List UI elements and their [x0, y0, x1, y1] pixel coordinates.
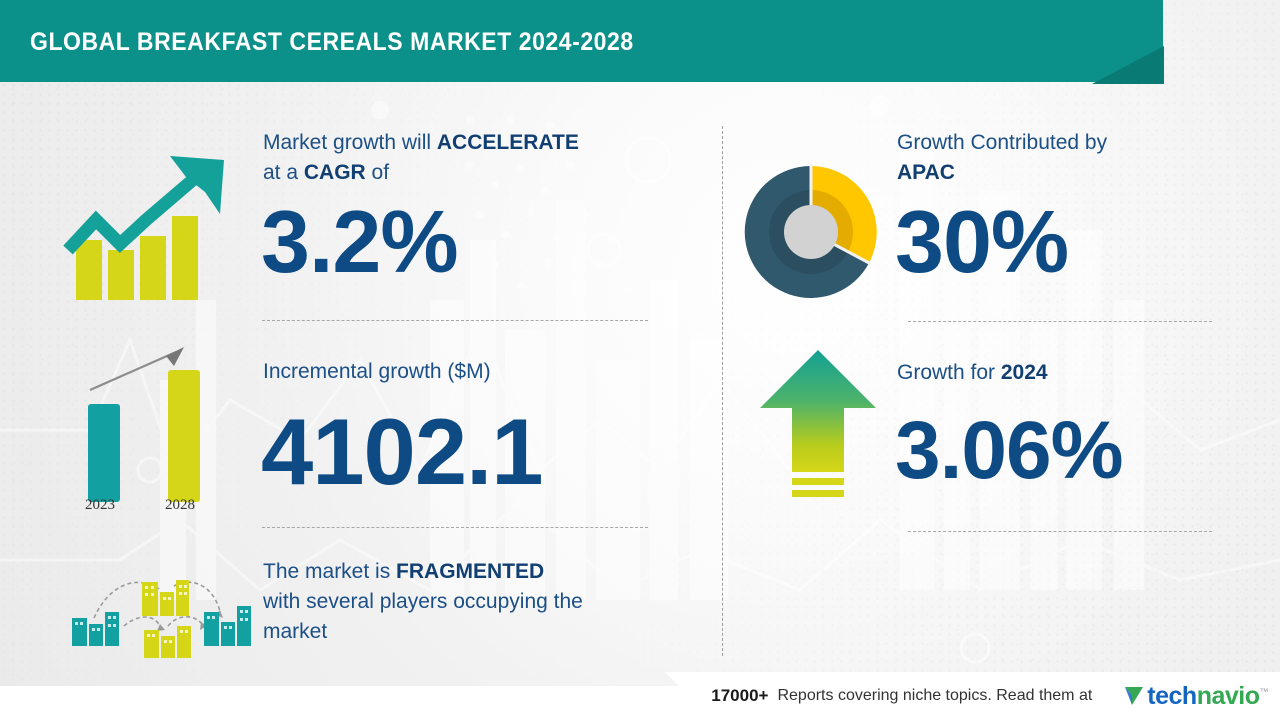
apac-description: Growth Contributed by APAC: [897, 128, 1227, 188]
apac-value-block: 30%: [895, 198, 1068, 286]
logo-trademark: ™: [1260, 686, 1269, 696]
divider-left-2: [262, 527, 648, 528]
up-arrow-icon: [756, 344, 880, 512]
logo-text-tech: tech: [1147, 682, 1196, 710]
cagr-value: 3.2%: [261, 198, 458, 286]
fragmentation-line1-prefix: The market is: [263, 560, 396, 583]
divider-left-1: [262, 320, 648, 321]
cagr-value-block: 3.2%: [261, 198, 458, 286]
fragmentation-description: The market is FRAGMENTED with several pl…: [263, 557, 683, 647]
apac-value: 30%: [895, 198, 1068, 286]
growth-2024-label-prefix: Growth for: [897, 361, 1001, 384]
fragmentation-line3: market: [263, 620, 327, 643]
cagr-line1-bold: ACCELERATE: [437, 131, 579, 154]
growth-2024-value: 3.06%: [895, 410, 1123, 492]
growth-chart-icon: [62, 132, 258, 308]
incremental-growth-label: Incremental growth ($M): [263, 357, 663, 387]
footer-report-count: 17000+: [711, 686, 768, 706]
cagr-line2-bold: CAGR: [304, 161, 366, 184]
fragmentation-line2: with several players occupying the: [263, 590, 583, 613]
apac-label-bold: APAC: [897, 161, 955, 184]
bar-label-2028: 2028: [165, 497, 195, 514]
technavio-wordmark: technavio™: [1147, 682, 1268, 711]
cagr-description: Market growth will ACCELERATE at a CAGR …: [263, 128, 663, 188]
logo-text-navio: navio: [1197, 682, 1260, 710]
growth-2024-description: Growth for 2024: [897, 358, 1227, 388]
cagr-line1-prefix: Market growth will: [263, 131, 437, 154]
incremental-growth-label-block: Incremental growth ($M): [263, 357, 663, 387]
incremental-growth-value: 4102.1: [261, 405, 543, 499]
growth-2024-label-bold: 2024: [1001, 361, 1048, 384]
bar-label-2023: 2023: [85, 497, 115, 514]
apac-label-prefix: Growth Contributed by: [897, 131, 1107, 154]
footer-content: 17000+ Reports covering niche topics. Re…: [711, 672, 1268, 720]
divider-right-2: [908, 531, 1212, 532]
fragmentation-line1-bold: FRAGMENTED: [396, 560, 544, 583]
page-title: GLOBAL BREAKFAST CEREALS MARKET 2024-202…: [30, 28, 634, 57]
cagr-line2-prefix: at a: [263, 161, 304, 184]
city-network-icon: [68, 556, 254, 662]
divider-right-1: [908, 321, 1212, 322]
divider-column-vertical: [722, 126, 723, 656]
incremental-growth-value-block: 4102.1: [261, 405, 543, 499]
technavio-logo[interactable]: technavio™: [1123, 682, 1268, 711]
footer-tagline: Reports covering niche topics. Read them…: [777, 687, 1092, 705]
cagr-line2-suffix: of: [366, 161, 389, 184]
donut-chart-icon: [737, 158, 885, 306]
growth-2024-value-block: 3.06%: [895, 410, 1123, 492]
technavio-mark-icon: [1123, 684, 1145, 708]
